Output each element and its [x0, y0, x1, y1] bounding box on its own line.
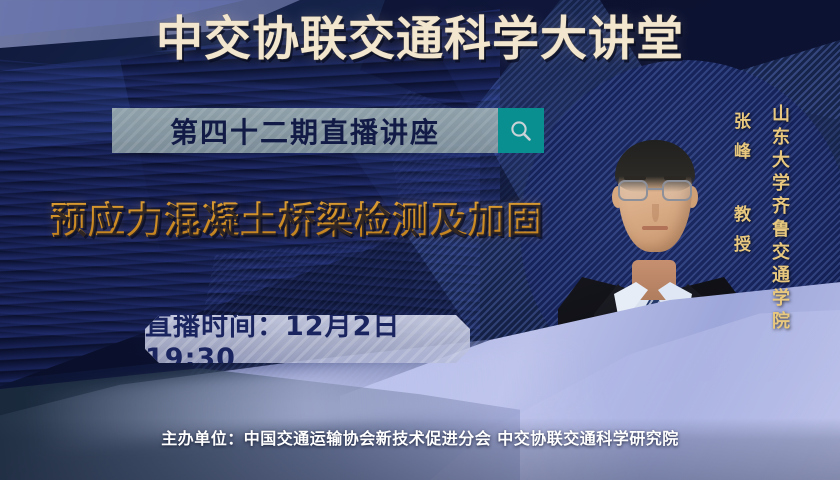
livestream-poster: 中交协联交通科学大讲堂 第四十二期直播讲座 预应力混凝土桥梁检测及加固 直播时间…	[0, 0, 840, 480]
broadcast-time-banner: 直播时间：12月2日19:30	[145, 315, 470, 363]
eyeglass-lens-left	[618, 180, 648, 201]
speaker-name: 张峰 教授	[728, 112, 753, 265]
eyeglass-bridge	[648, 188, 662, 190]
portrait-eyeglasses	[616, 180, 694, 202]
series-label: 第四十二期直播讲座	[112, 108, 498, 153]
portrait-nose	[652, 204, 659, 222]
search-button[interactable]	[498, 108, 544, 153]
lecture-topic: 预应力混凝土桥梁检测及加固	[50, 190, 544, 244]
organizer-line: 主办单位：中国交通运输协会新技术促进分会 中交协联交通科学研究院	[0, 425, 840, 449]
speaker-affiliation: 山东大学齐鲁交通学院	[766, 104, 792, 334]
eyeglass-lens-right	[662, 180, 692, 201]
search-icon	[508, 118, 534, 144]
page-title: 中交协联交通科学大讲堂	[0, 16, 840, 63]
portrait-mouth	[642, 226, 668, 230]
series-bar: 第四十二期直播讲座	[112, 108, 544, 153]
